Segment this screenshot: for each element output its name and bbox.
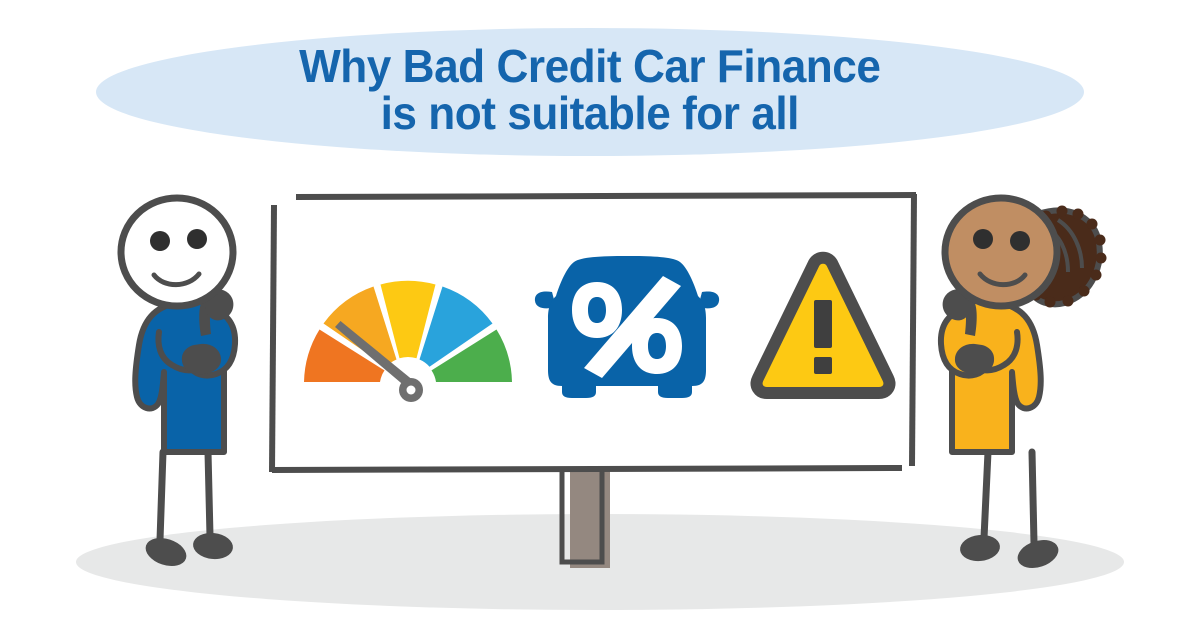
headline-banner-ellipse xyxy=(96,28,1084,156)
warning-exclamation-dot xyxy=(814,357,832,374)
right-person-head xyxy=(945,198,1057,306)
billboard-frame-right xyxy=(912,194,914,466)
billboard-frame-top xyxy=(296,195,916,197)
billboard-frame-left xyxy=(272,205,274,472)
left-person[interactable] xyxy=(121,198,235,571)
left-person-leg-1 xyxy=(160,452,163,540)
left-person-eye-left xyxy=(150,231,170,251)
illustration-canvas: Why Bad Credit Car Finance is not suitab… xyxy=(0,0,1200,628)
scene-graphic xyxy=(0,0,1200,628)
left-person-hands xyxy=(182,344,221,374)
right-person-leg-1 xyxy=(984,452,988,538)
right-person-leg-2 xyxy=(1032,452,1034,543)
right-person[interactable] xyxy=(941,198,1107,573)
left-person-eye-right xyxy=(187,229,207,249)
right-person-hands xyxy=(955,344,994,374)
left-person-leg-2 xyxy=(208,452,210,536)
left-person-head xyxy=(121,198,233,306)
warning-exclamation-stem xyxy=(814,300,832,348)
right-person-eye-right xyxy=(1010,231,1030,251)
billboard-frame-bottom xyxy=(272,468,902,470)
right-person-eye-left xyxy=(973,229,993,249)
